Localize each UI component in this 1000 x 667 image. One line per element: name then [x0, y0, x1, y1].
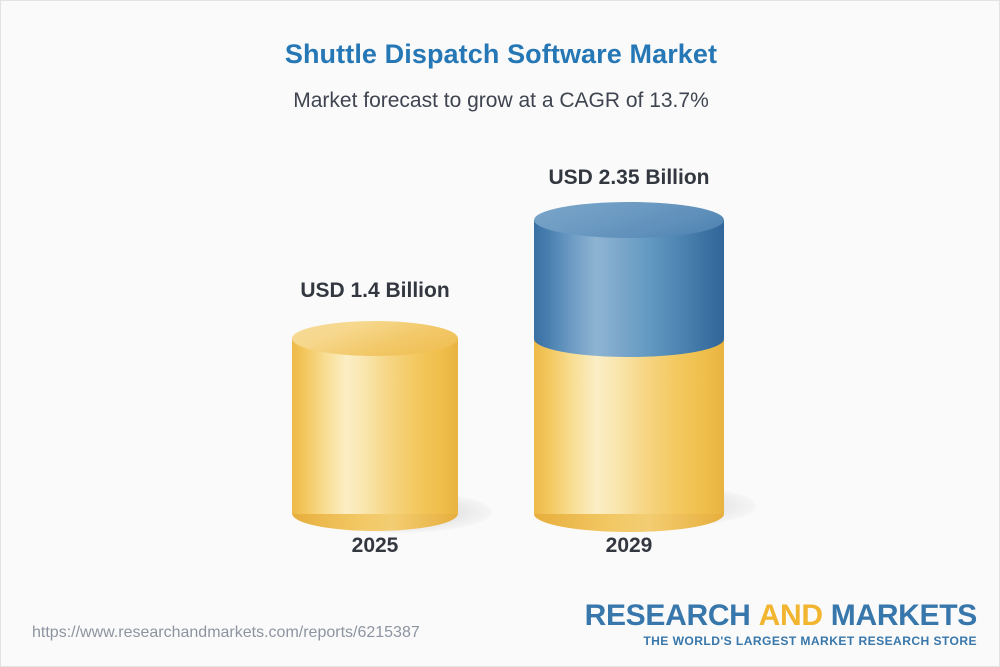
logo-wordmark: RESEARCH AND MARKETS — [585, 601, 977, 631]
logo-word-markets: MARKETS — [831, 599, 977, 632]
bar-value-label-2025: USD 1.4 Billion — [292, 279, 458, 303]
bar-segment-base — [292, 321, 458, 521]
logo-space-1 — [751, 599, 759, 632]
bar-category-label-2029: 2029 — [534, 534, 724, 558]
logo-tagline: THE WORLD'S LARGEST MARKET RESEARCH STOR… — [585, 634, 977, 648]
chart-title: Shuttle Dispatch Software Market — [1, 39, 1000, 70]
cylinder-segment-bottom-ellipse — [534, 321, 724, 357]
logo-word-and: AND — [759, 599, 823, 632]
cylinder-body — [534, 339, 724, 514]
bar-value-label-2029: USD 2.35 Billion — [534, 166, 724, 190]
cylinder-top-ellipse — [534, 202, 724, 238]
bar-2025[interactable] — [292, 321, 458, 514]
chart-subtitle: Market forecast to grow at a CAGR of 13.… — [1, 89, 1000, 113]
report-url-link[interactable]: https://www.researchandmarkets.com/repor… — [32, 624, 420, 642]
bar-segment-growth — [534, 202, 724, 357]
bar-segment-base — [534, 339, 724, 514]
logo-word-research: RESEARCH — [585, 599, 751, 632]
chart-canvas: Shuttle Dispatch Software Market Market … — [0, 0, 1000, 667]
logo-space-2 — [823, 599, 831, 632]
research-and-markets-logo[interactable]: RESEARCH AND MARKETS THE WORLD'S LARGEST… — [585, 601, 977, 648]
cylinder-body — [292, 339, 458, 514]
bar-category-label-2025: 2025 — [292, 534, 458, 558]
bar-2029[interactable] — [534, 202, 724, 532]
